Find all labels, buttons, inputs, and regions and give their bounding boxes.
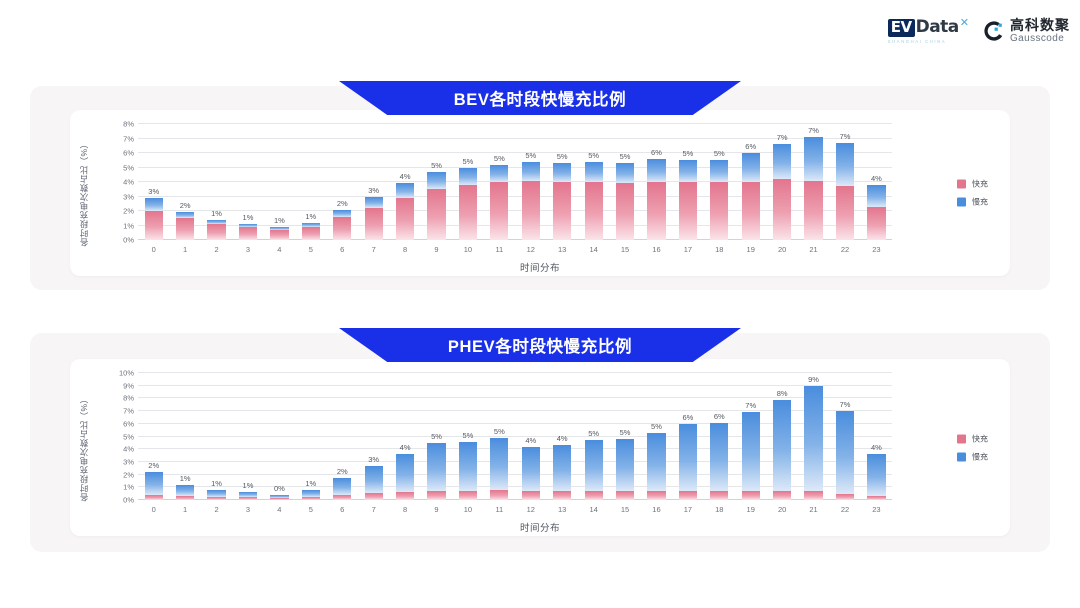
- phev-y-tick: 7%: [123, 407, 134, 416]
- bev-bar-segment-slow-charge[interactable]: [836, 143, 854, 186]
- phev-bar-segment-slow-charge[interactable]: [553, 445, 571, 491]
- bev-bar-segment-fast-charge[interactable]: [647, 182, 665, 240]
- bev-bar-segment-fast-charge[interactable]: [270, 230, 288, 240]
- phev-bar-group[interactable]: 4%23: [861, 373, 892, 500]
- phev-bar-stack[interactable]: 2%: [145, 472, 163, 500]
- phev-bar-stack[interactable]: 4%: [553, 445, 571, 500]
- phev-x-tick: 14: [589, 505, 597, 514]
- bev-bar-segment-fast-charge[interactable]: [333, 217, 351, 240]
- phev-bar-segment-slow-charge[interactable]: [804, 386, 822, 491]
- phev-bar-group[interactable]: 7%22: [829, 373, 860, 500]
- phev-x-tick: 13: [558, 505, 566, 514]
- bev-bar-segment-fast-charge[interactable]: [145, 211, 163, 240]
- bev-x-tick: 16: [652, 245, 660, 254]
- phev-bar-data-label: 1%: [180, 474, 191, 483]
- phev-x-tick: 6: [340, 505, 344, 514]
- bev-bar-segment-slow-charge[interactable]: [585, 162, 603, 182]
- phev-x-axis-label: 时间分布: [70, 520, 1010, 534]
- bev-bar-segment-fast-charge[interactable]: [710, 182, 728, 240]
- bev-bar-group[interactable]: 7%22: [829, 124, 860, 240]
- phev-bar-group[interactable]: 5%15: [609, 373, 640, 500]
- bev-bar-segment-fast-charge[interactable]: [459, 185, 477, 240]
- bev-bar-segment-fast-charge[interactable]: [239, 227, 257, 240]
- phev-bar-data-label: 2%: [337, 467, 348, 476]
- phev-bar-stack[interactable]: 1%: [302, 490, 320, 500]
- phev-x-tick: 8: [403, 505, 407, 514]
- bev-legend-item[interactable]: 慢充: [957, 197, 988, 208]
- phev-bar-segment-fast-charge[interactable]: [773, 491, 791, 500]
- phev-x-tick: 1: [183, 505, 187, 514]
- phev-bar-group[interactable]: 4%8: [389, 373, 420, 500]
- phev-legend-swatch: [957, 452, 966, 461]
- phev-bar-stack[interactable]: 3%: [365, 466, 383, 500]
- bev-x-tick: 21: [809, 245, 817, 254]
- bev-x-tick: 4: [277, 245, 281, 254]
- bev-bar-segment-slow-charge[interactable]: [145, 198, 163, 211]
- bev-bar-data-label: 5%: [588, 151, 599, 160]
- bev-bar-group[interactable]: 1%5: [295, 124, 326, 240]
- phev-bar-data-label: 2%: [148, 461, 159, 470]
- bev-bar-segment-fast-charge[interactable]: [836, 186, 854, 240]
- bev-bar-group[interactable]: 5%17: [672, 124, 703, 240]
- phev-bar-segment-fast-charge[interactable]: [333, 495, 351, 500]
- bev-y-tick: 7%: [123, 134, 134, 143]
- bev-bar-segment-slow-charge[interactable]: [459, 168, 477, 185]
- bev-bar-segment-slow-charge[interactable]: [553, 163, 571, 182]
- phev-bar-data-label: 6%: [682, 413, 693, 422]
- phev-bar-group[interactable]: 3%7: [358, 373, 389, 500]
- phev-bar-stack[interactable]: 1%: [207, 490, 225, 500]
- bev-bar-data-label: 3%: [368, 186, 379, 195]
- phev-bar-group[interactable]: 0%4: [264, 373, 295, 500]
- bev-bar-data-label: 3%: [148, 187, 159, 196]
- bev-bar-stack[interactable]: 7%: [804, 137, 822, 240]
- phev-legend-swatch: [957, 434, 966, 443]
- bev-bar-group[interactable]: 7%20: [766, 124, 797, 240]
- phev-bar-group[interactable]: 8%20: [766, 373, 797, 500]
- gausscode-name-en: Gausscode: [1010, 34, 1070, 44]
- bev-legend-label: 快充: [972, 179, 988, 190]
- bev-bar-stack[interactable]: 5%: [553, 163, 571, 240]
- phev-x-tick: 21: [809, 505, 817, 514]
- phev-bar-stack[interactable]: 8%: [773, 400, 791, 500]
- bev-bar-group[interactable]: 5%18: [704, 124, 735, 240]
- phev-bar-data-label: 4%: [525, 436, 536, 445]
- phev-bar-stack[interactable]: 6%: [679, 424, 697, 500]
- phev-bar-segment-slow-charge[interactable]: [616, 439, 634, 491]
- phev-banner-title: PHEV各时段快慢充比例: [339, 328, 741, 362]
- phev-bar-stack[interactable]: 4%: [522, 447, 540, 500]
- bev-bar-segment-fast-charge[interactable]: [742, 182, 760, 240]
- bev-bar-stack[interactable]: 5%: [585, 162, 603, 240]
- phev-x-tick: 5: [309, 505, 313, 514]
- phev-bar-segment-slow-charge[interactable]: [333, 478, 351, 495]
- bev-bar-group[interactable]: 5%15: [609, 124, 640, 240]
- bev-bar-segment-fast-charge[interactable]: [207, 224, 225, 240]
- phev-bar-group[interactable]: 6%17: [672, 373, 703, 500]
- bev-x-tick: 9: [434, 245, 438, 254]
- phev-bar-stack[interactable]: 2%: [333, 478, 351, 500]
- bev-bar-group[interactable]: 4%23: [861, 124, 892, 240]
- bev-y-tick: 3%: [123, 192, 134, 201]
- phev-bar-group[interactable]: 4%13: [546, 373, 577, 500]
- phev-bar-group[interactable]: 1%3: [232, 373, 263, 500]
- bev-x-tick: 22: [841, 245, 849, 254]
- phev-bar-segment-fast-charge[interactable]: [836, 494, 854, 500]
- evdata-superscript-icon: ✕: [960, 19, 969, 28]
- phev-bar-segment-fast-charge[interactable]: [710, 491, 728, 500]
- bev-bar-stack[interactable]: 5%: [679, 160, 697, 240]
- bev-bar-data-label: 5%: [557, 152, 568, 161]
- phev-bar-segment-fast-charge[interactable]: [647, 491, 665, 500]
- bev-bars: 3%02%11%21%31%41%52%63%74%85%95%105%115%…: [138, 124, 892, 240]
- bev-bar-stack[interactable]: 7%: [773, 144, 791, 240]
- bev-bar-group[interactable]: 1%3: [232, 124, 263, 240]
- phev-bar-data-label: 1%: [243, 481, 254, 490]
- bev-bar-stack[interactable]: 2%: [333, 210, 351, 240]
- bev-bar-group[interactable]: 6%16: [641, 124, 672, 240]
- phev-x-tick: 11: [495, 505, 503, 514]
- phev-bar-data-label: 5%: [651, 422, 662, 431]
- bev-bar-stack[interactable]: 6%: [647, 159, 665, 240]
- bev-bar-group[interactable]: 6%19: [735, 124, 766, 240]
- bev-bar-data-label: 4%: [400, 172, 411, 181]
- bev-x-tick: 23: [872, 245, 880, 254]
- bev-bar-segment-fast-charge[interactable]: [804, 181, 822, 240]
- phev-bar-group[interactable]: 5%10: [452, 373, 483, 500]
- phev-bar-segment-slow-charge[interactable]: [490, 438, 508, 490]
- phev-bar-group[interactable]: 7%19: [735, 373, 766, 500]
- phev-bar-segment-fast-charge[interactable]: [867, 496, 885, 500]
- bev-bar-segment-slow-charge[interactable]: [522, 162, 540, 181]
- bev-bar-stack[interactable]: 1%: [302, 223, 320, 240]
- bev-bar-data-label: 1%: [274, 216, 285, 225]
- phev-bar-segment-slow-charge[interactable]: [207, 490, 225, 497]
- phev-bar-stack[interactable]: 4%: [867, 454, 885, 500]
- phev-bar-segment-slow-charge[interactable]: [176, 485, 194, 496]
- bev-bar-group[interactable]: 4%8: [389, 124, 420, 240]
- phev-x-tick: 16: [652, 505, 660, 514]
- phev-y-tick: 0%: [123, 496, 134, 505]
- bev-bar-stack[interactable]: 7%: [836, 143, 854, 240]
- bev-bar-segment-slow-charge[interactable]: [427, 172, 445, 189]
- bev-bar-data-label: 5%: [463, 157, 474, 166]
- phev-bar-segment-fast-charge[interactable]: [145, 495, 163, 500]
- phev-x-tick: 18: [715, 505, 723, 514]
- bev-banner-title: BEV各时段快慢充比例: [339, 81, 741, 115]
- bev-legend-label: 慢充: [972, 197, 988, 208]
- phev-bar-stack[interactable]: 7%: [742, 412, 760, 500]
- bev-y-tick: 0%: [123, 236, 134, 245]
- bev-bar-segment-fast-charge[interactable]: [490, 182, 508, 240]
- phev-chart: 各时段充电次数占比（%） 0%1%2%3%4%5%6%7%8%9%10%2%01…: [70, 359, 1010, 536]
- bev-x-tick: 3: [246, 245, 250, 254]
- phev-bar-stack[interactable]: 5%: [427, 443, 445, 500]
- phev-bar-segment-slow-charge[interactable]: [836, 411, 854, 494]
- bev-bar-group[interactable]: 5%14: [578, 124, 609, 240]
- phev-x-tick: 12: [527, 505, 535, 514]
- phev-x-tick: 17: [684, 505, 692, 514]
- bev-bar-segment-fast-charge[interactable]: [679, 182, 697, 240]
- phev-bar-segment-fast-charge[interactable]: [742, 491, 760, 500]
- bev-x-tick: 19: [747, 245, 755, 254]
- phev-bar-segment-fast-charge[interactable]: [616, 491, 634, 500]
- phev-bar-segment-slow-charge[interactable]: [427, 443, 445, 491]
- phev-bar-segment-slow-charge[interactable]: [145, 472, 163, 495]
- phev-bar-stack[interactable]: 0%: [270, 495, 288, 500]
- phev-bar-stack[interactable]: 5%: [616, 439, 634, 500]
- phev-bar-segment-fast-charge[interactable]: [459, 491, 477, 500]
- bev-bar-data-label: 5%: [682, 149, 693, 158]
- gausscode-mark-icon: [983, 20, 1005, 42]
- phev-legend-label: 快充: [972, 433, 988, 444]
- phev-bar-group[interactable]: 5%9: [421, 373, 452, 500]
- bev-legend-item[interactable]: 快充: [957, 179, 988, 190]
- phev-bar-segment-fast-charge[interactable]: [239, 497, 257, 500]
- bev-bar-segment-slow-charge[interactable]: [679, 160, 697, 182]
- bev-bar-stack[interactable]: 4%: [867, 185, 885, 240]
- header-logos: EV Data ✕ SHANGHAI CHINA 高科数聚 Gausscode: [888, 13, 1070, 49]
- bev-bar-group[interactable]: 3%7: [358, 124, 389, 240]
- bev-bar-segment-fast-charge[interactable]: [585, 182, 603, 240]
- phev-legend-item[interactable]: 慢充: [957, 451, 988, 462]
- phev-y-tick: 1%: [123, 483, 134, 492]
- phev-bar-segment-slow-charge[interactable]: [396, 454, 414, 492]
- bev-x-tick: 14: [589, 245, 597, 254]
- phev-bar-stack[interactable]: 4%: [396, 454, 414, 500]
- phev-bar-group[interactable]: 5%14: [578, 373, 609, 500]
- bev-x-tick: 13: [558, 245, 566, 254]
- phev-bar-group[interactable]: 5%16: [641, 373, 672, 500]
- bev-bar-segment-slow-charge[interactable]: [710, 160, 728, 182]
- phev-bar-data-label: 8%: [777, 389, 788, 398]
- bev-x-tick: 2: [214, 245, 218, 254]
- phev-bar-segment-fast-charge[interactable]: [490, 490, 508, 500]
- bev-bar-segment-fast-charge[interactable]: [302, 227, 320, 240]
- bev-bar-stack[interactable]: 1%: [270, 227, 288, 240]
- bev-bar-group[interactable]: 5%11: [484, 124, 515, 240]
- phev-bar-stack[interactable]: 7%: [836, 411, 854, 500]
- bev-bar-data-label: 5%: [620, 152, 631, 161]
- phev-bar-segment-fast-charge[interactable]: [270, 498, 288, 500]
- phev-bar-segment-fast-charge[interactable]: [679, 491, 697, 500]
- bev-bar-group[interactable]: 5%9: [421, 124, 452, 240]
- bev-bar-group[interactable]: 7%21: [798, 124, 829, 240]
- phev-bar-segment-fast-charge[interactable]: [522, 491, 540, 500]
- phev-y-tick: 8%: [123, 394, 134, 403]
- bev-bar-stack[interactable]: 5%: [522, 162, 540, 240]
- phev-bar-segment-fast-charge[interactable]: [302, 497, 320, 500]
- phev-bar-group[interactable]: 5%11: [484, 373, 515, 500]
- phev-bar-segment-slow-charge[interactable]: [522, 447, 540, 491]
- phev-bar-stack[interactable]: 5%: [647, 433, 665, 500]
- phev-bar-segment-fast-charge[interactable]: [396, 492, 414, 500]
- bev-bar-data-label: 6%: [651, 148, 662, 157]
- phev-bar-stack[interactable]: 6%: [710, 423, 728, 500]
- phev-bar-segment-slow-charge[interactable]: [773, 400, 791, 491]
- phev-bar-stack[interactable]: 1%: [239, 492, 257, 500]
- bev-bar-data-label: 2%: [180, 201, 191, 210]
- phev-bar-data-label: 7%: [745, 401, 756, 410]
- bev-bar-data-label: 1%: [243, 213, 254, 222]
- bev-bar-stack[interactable]: 4%: [396, 183, 414, 240]
- phev-bar-stack[interactable]: 5%: [585, 440, 603, 500]
- bev-bar-stack[interactable]: 6%: [742, 153, 760, 240]
- phev-x-tick: 22: [841, 505, 849, 514]
- phev-bar-data-label: 6%: [714, 412, 725, 421]
- phev-bar-stack[interactable]: 9%: [804, 386, 822, 500]
- phev-plot-area: 0%1%2%3%4%5%6%7%8%9%10%2%01%11%21%30%41%…: [138, 373, 892, 500]
- bev-bar-segment-fast-charge[interactable]: [396, 198, 414, 240]
- bev-x-tick: 12: [527, 245, 535, 254]
- bev-x-tick: 1: [183, 245, 187, 254]
- bev-bar-data-label: 4%: [871, 174, 882, 183]
- phev-bar-segment-slow-charge[interactable]: [742, 412, 760, 491]
- bev-bar-segment-fast-charge[interactable]: [553, 182, 571, 240]
- phev-bar-group[interactable]: 9%21: [798, 373, 829, 500]
- phev-y-tick: 3%: [123, 457, 134, 466]
- bev-bar-segment-slow-charge[interactable]: [867, 185, 885, 207]
- bev-y-tick: 4%: [123, 178, 134, 187]
- phev-bar-group[interactable]: 1%1: [169, 373, 200, 500]
- bev-y-tick: 5%: [123, 163, 134, 172]
- bev-bar-stack[interactable]: 2%: [176, 212, 194, 240]
- bev-bar-data-label: 1%: [305, 212, 316, 221]
- phev-x-tick: 4: [277, 505, 281, 514]
- bev-bar-data-label: 5%: [431, 161, 442, 170]
- phev-bar-segment-slow-charge[interactable]: [867, 454, 885, 496]
- phev-bar-segment-fast-charge[interactable]: [553, 491, 571, 500]
- phev-y-tick: 9%: [123, 381, 134, 390]
- bev-chart: 各时段充电次数占比（%） 0%1%2%3%4%5%6%7%8%3%02%11%2…: [70, 110, 1010, 276]
- bev-bar-stack[interactable]: 5%: [490, 165, 508, 240]
- bev-bar-segment-slow-charge[interactable]: [333, 210, 351, 217]
- phev-bar-group[interactable]: 1%5: [295, 373, 326, 500]
- bev-bar-group[interactable]: 5%12: [515, 124, 546, 240]
- gausscode-name-cn: 高科数聚: [1010, 18, 1070, 32]
- phev-bar-segment-slow-charge[interactable]: [585, 440, 603, 491]
- bev-bar-data-label: 7%: [840, 132, 851, 141]
- bev-bar-segment-fast-charge[interactable]: [176, 218, 194, 240]
- phev-bar-group[interactable]: 2%6: [327, 373, 358, 500]
- phev-bar-data-label: 5%: [431, 432, 442, 441]
- bev-bar-segment-slow-charge[interactable]: [396, 183, 414, 197]
- bev-y-axis-label: 各时段充电次数占比（%）: [78, 139, 90, 246]
- bev-bar-segment-slow-charge[interactable]: [804, 137, 822, 180]
- bev-bar-group[interactable]: 3%0: [138, 124, 169, 240]
- bev-bar-group[interactable]: 5%13: [546, 124, 577, 240]
- bev-bar-stack[interactable]: 5%: [427, 172, 445, 240]
- bev-bar-segment-fast-charge[interactable]: [522, 181, 540, 240]
- bev-x-tick: 20: [778, 245, 786, 254]
- evdata-subtitle: SHANGHAI CHINA: [888, 39, 946, 44]
- phev-x-tick: 20: [778, 505, 786, 514]
- phev-bar-group[interactable]: 6%18: [704, 373, 735, 500]
- phev-bar-segment-fast-charge[interactable]: [427, 491, 445, 500]
- bev-x-tick: 18: [715, 245, 723, 254]
- phev-x-tick: 10: [464, 505, 472, 514]
- bev-bar-data-label: 6%: [745, 142, 756, 151]
- phev-bar-segment-fast-charge[interactable]: [207, 497, 225, 500]
- bev-bar-segment-fast-charge[interactable]: [867, 207, 885, 240]
- bev-bar-segment-slow-charge[interactable]: [490, 165, 508, 182]
- bev-bar-data-label: 7%: [808, 126, 819, 135]
- phev-bar-stack[interactable]: 5%: [490, 438, 508, 500]
- bev-bar-stack[interactable]: 5%: [710, 160, 728, 240]
- bev-y-tick: 6%: [123, 149, 134, 158]
- phev-bar-segment-fast-charge[interactable]: [585, 491, 603, 500]
- phev-bar-segment-fast-charge[interactable]: [804, 491, 822, 500]
- bev-x-tick: 6: [340, 245, 344, 254]
- bev-bar-stack[interactable]: 3%: [365, 197, 383, 241]
- bev-x-tick: 0: [152, 245, 156, 254]
- phev-bar-data-label: 7%: [840, 400, 851, 409]
- bev-bar-segment-slow-charge[interactable]: [773, 144, 791, 179]
- phev-bar-data-label: 5%: [620, 428, 631, 437]
- bev-bar-segment-fast-charge[interactable]: [365, 208, 383, 240]
- phev-bar-data-label: 1%: [211, 479, 222, 488]
- phev-bars: 2%01%11%21%30%41%52%63%74%85%95%105%114%…: [138, 373, 892, 500]
- bev-x-tick: 11: [495, 245, 503, 254]
- phev-bar-segment-slow-charge[interactable]: [302, 490, 320, 497]
- phev-bar-group[interactable]: 4%12: [515, 373, 546, 500]
- phev-legend-item[interactable]: 快充: [957, 433, 988, 444]
- bev-bar-stack[interactable]: 1%: [207, 220, 225, 240]
- bev-x-axis-label: 时间分布: [70, 260, 1010, 274]
- phev-bar-segment-fast-charge[interactable]: [365, 493, 383, 500]
- phev-legend: 快充慢充: [957, 433, 988, 462]
- phev-bar-segment-slow-charge[interactable]: [679, 424, 697, 491]
- bev-bar-segment-slow-charge[interactable]: [742, 153, 760, 182]
- bev-bar-segment-slow-charge[interactable]: [365, 197, 383, 209]
- bev-bar-group[interactable]: 5%10: [452, 124, 483, 240]
- phev-bar-stack[interactable]: 5%: [459, 442, 477, 500]
- bev-bar-group[interactable]: 1%2: [201, 124, 232, 240]
- phev-y-tick: 6%: [123, 419, 134, 428]
- bev-x-tick: 17: [684, 245, 692, 254]
- phev-y-tick: 2%: [123, 470, 134, 479]
- phev-bar-group[interactable]: 2%0: [138, 373, 169, 500]
- phev-bar-group[interactable]: 1%2: [201, 373, 232, 500]
- slide-page: EV Data ✕ SHANGHAI CHINA 高科数聚 Gausscode: [0, 0, 1080, 608]
- phev-x-tick: 3: [246, 505, 250, 514]
- phev-bar-segment-slow-charge[interactable]: [647, 433, 665, 491]
- phev-bar-segment-slow-charge[interactable]: [365, 466, 383, 493]
- bev-bar-group[interactable]: 2%1: [169, 124, 200, 240]
- phev-bar-segment-slow-charge[interactable]: [459, 442, 477, 492]
- bev-bar-stack[interactable]: 5%: [459, 168, 477, 241]
- bev-plot-area: 0%1%2%3%4%5%6%7%8%3%02%11%21%31%41%52%63…: [138, 124, 892, 240]
- phev-bar-segment-fast-charge[interactable]: [176, 496, 194, 500]
- phev-bar-stack[interactable]: 1%: [176, 485, 194, 500]
- phev-bar-segment-slow-charge[interactable]: [710, 423, 728, 492]
- bev-bar-stack[interactable]: 5%: [616, 163, 634, 240]
- bev-bar-group[interactable]: 2%6: [327, 124, 358, 240]
- bev-bar-stack[interactable]: 1%: [239, 224, 257, 240]
- gausscode-logo: 高科数聚 Gausscode: [983, 18, 1070, 44]
- bev-bar-group[interactable]: 1%4: [264, 124, 295, 240]
- phev-bar-data-label: 5%: [463, 431, 474, 440]
- bev-legend-swatch: [957, 198, 966, 207]
- bev-bar-segment-slow-charge[interactable]: [616, 163, 634, 183]
- phev-y-tick: 5%: [123, 432, 134, 441]
- bev-bar-segment-fast-charge[interactable]: [427, 189, 445, 240]
- bev-bar-segment-fast-charge[interactable]: [773, 179, 791, 240]
- bev-bar-segment-slow-charge[interactable]: [647, 159, 665, 182]
- bev-bar-segment-fast-charge[interactable]: [616, 183, 634, 240]
- bev-bar-stack[interactable]: 3%: [145, 198, 163, 240]
- phev-chart-card: 各时段充电次数占比（%） 0%1%2%3%4%5%6%7%8%9%10%2%01…: [30, 333, 1050, 552]
